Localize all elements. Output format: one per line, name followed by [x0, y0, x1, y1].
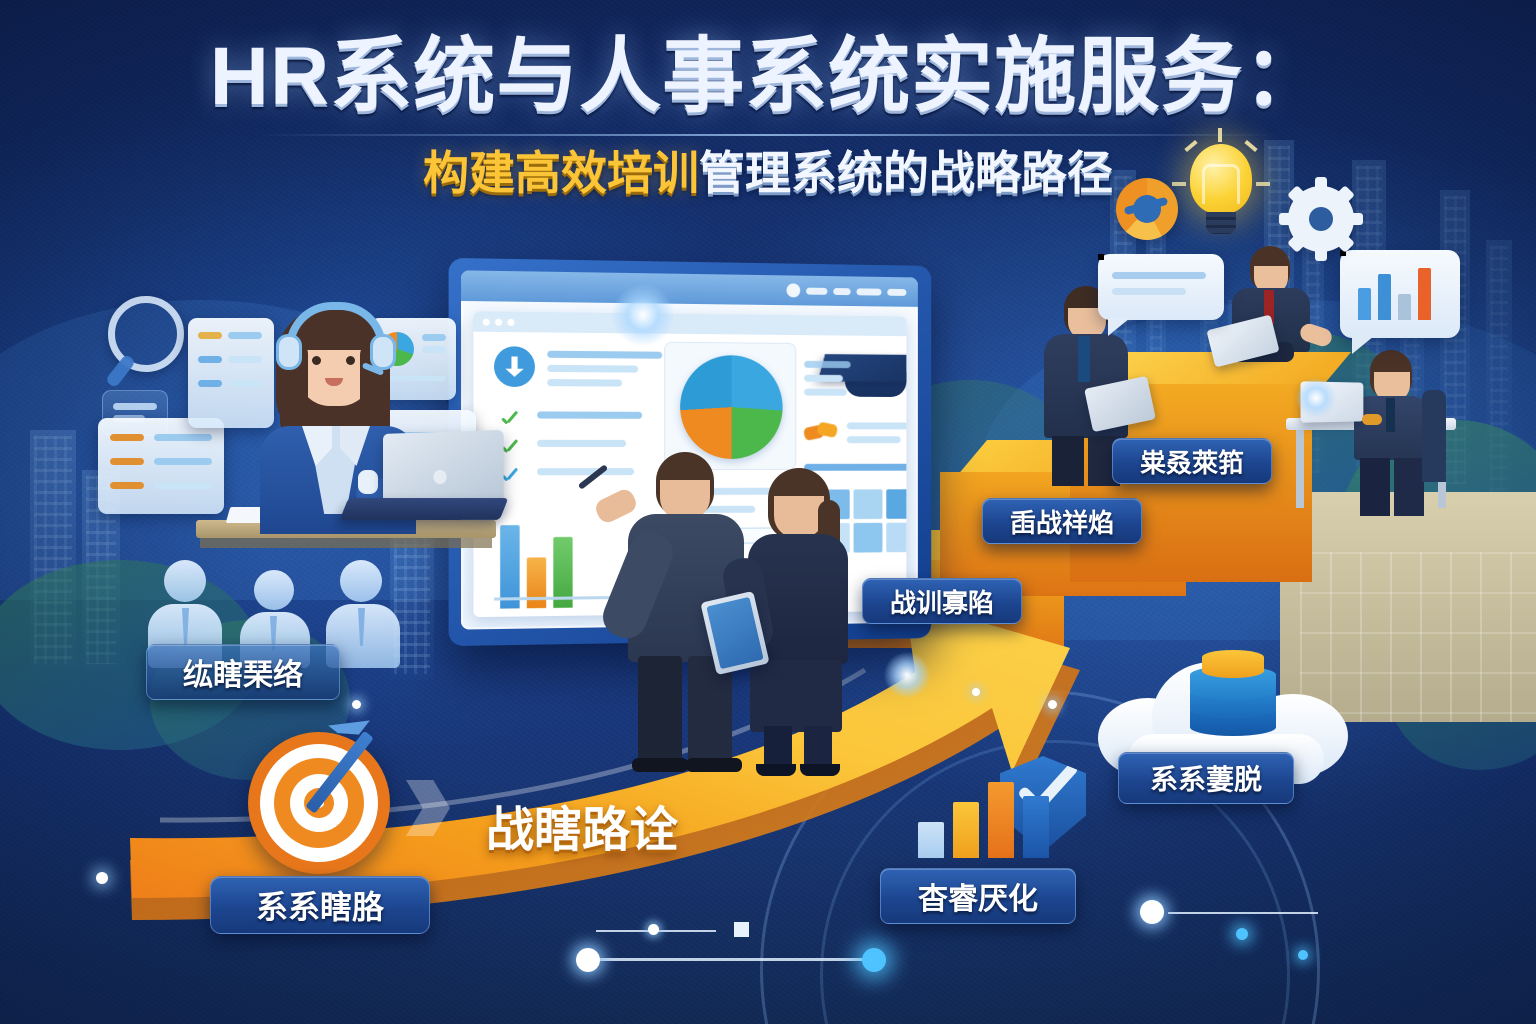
connector-node-cyan: [862, 948, 886, 972]
connector-node: [972, 688, 980, 696]
window-dot[interactable]: [507, 318, 514, 325]
connector-node-cyan: [1298, 950, 1308, 960]
ribbon-center-label: 战瞎路诠: [486, 790, 678, 860]
laptop-base: [340, 498, 509, 520]
badge-ribbon-left[interactable]: 系系瞎胳: [210, 876, 430, 934]
badge-step-mid[interactable]: 臿战祥焰: [982, 498, 1142, 544]
office-chair: [1422, 390, 1446, 482]
connector-node: [648, 924, 659, 935]
magnifier-icon: [108, 296, 184, 372]
screen-toolbar: [461, 270, 918, 307]
bar-chart-bottom: [918, 778, 1049, 858]
connector-node: [352, 700, 361, 709]
presenter-woman: [742, 472, 854, 770]
sparkle: [884, 652, 930, 698]
connector-line: [1168, 912, 1318, 914]
download-icon[interactable]: [494, 346, 535, 387]
mouse-icon: [1362, 414, 1382, 425]
sparkle: [612, 284, 674, 346]
title-block: HR系统与人事系统实施服务： 构建高效培训管理系统的战略路径: [0, 34, 1536, 199]
subtitle-white-part: 管理系统的战略路径: [699, 147, 1113, 199]
connector-node-cyan: [1236, 928, 1248, 940]
badge-cloud-db[interactable]: 系系萋脱: [1118, 752, 1294, 804]
bar-chart-screen: [500, 517, 572, 609]
badge-bottom-chart[interactable]: 杳睿厌化: [880, 868, 1076, 924]
screen-lock-icon: [787, 283, 801, 297]
subtitle-gold-part: 构建高效培训: [423, 147, 699, 199]
page-subtitle: 构建高效培训管理系统的战略路径: [0, 148, 1536, 199]
page-title: HR系统与人事系统实施服务：: [0, 34, 1536, 120]
connector-line: [588, 958, 878, 961]
badge-step-high[interactable]: 粜叒萊筘: [1112, 438, 1272, 484]
title-divider: [258, 134, 1278, 136]
check-icon: [498, 409, 521, 431]
badge-team[interactable]: 纮瞎琹络: [146, 644, 340, 700]
connector-node: [96, 872, 108, 884]
desk-edge: [200, 538, 492, 548]
pie-chart-panel: [664, 342, 796, 470]
handshake-icon: [804, 420, 837, 442]
window-dot[interactable]: [495, 318, 502, 325]
pie-chart: [680, 355, 783, 459]
worker-sitting: [1216, 246, 1326, 376]
bar-chart-bubble: [1340, 250, 1460, 338]
target-bullseye-icon: [248, 732, 390, 874]
sparkle: [1296, 378, 1336, 418]
list-card-left: [98, 418, 224, 514]
worker-desk: [1346, 350, 1456, 520]
badge-step-low[interactable]: 战训寡陷: [862, 578, 1022, 624]
connector-node: [1048, 700, 1057, 709]
chat-bubble-icon: [1098, 254, 1224, 320]
connector-node: [1140, 900, 1164, 924]
database-stack-icon: [1174, 650, 1274, 750]
connector-node: [576, 948, 600, 972]
laptop-icon: [383, 430, 504, 508]
window-titlebar: [473, 311, 906, 336]
window-dot[interactable]: [483, 318, 490, 325]
connector-square: [734, 922, 749, 937]
poster-root: HR系统与人事系统实施服务： 构建高效培训管理系统的战略路径: [0, 0, 1536, 1024]
